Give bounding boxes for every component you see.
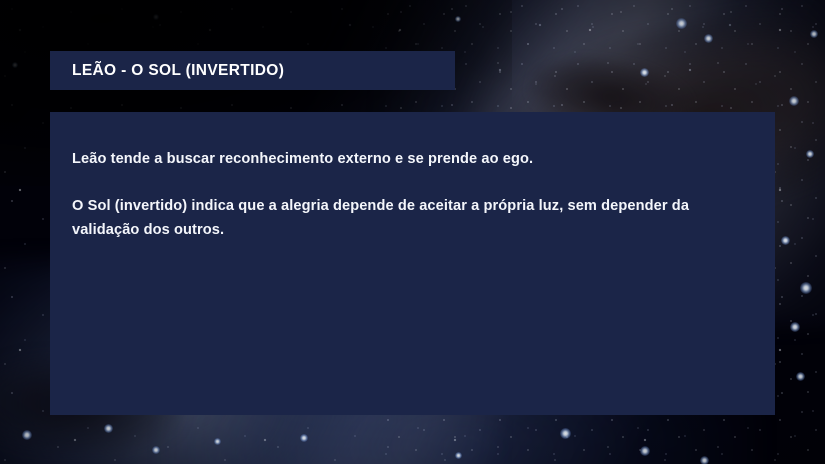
bright-star — [214, 438, 221, 445]
bright-star — [152, 446, 160, 454]
bright-star — [300, 434, 308, 442]
slide-canvas: LEÃO - O SOL (INVERTIDO) Leão tende a bu… — [0, 0, 825, 464]
bright-star — [22, 430, 32, 440]
body-paragraph-2: O Sol (invertido) indica que a alegria d… — [72, 195, 745, 242]
title-banner: LEÃO - O SOL (INVERTIDO) — [50, 51, 455, 90]
content-panel: Leão tende a buscar reconhecimento exter… — [50, 112, 775, 415]
page-title: LEÃO - O SOL (INVERTIDO) — [50, 62, 284, 80]
bright-star — [153, 14, 159, 20]
body-paragraph-1: Leão tende a buscar reconhecimento exter… — [72, 148, 745, 172]
bright-star — [12, 62, 18, 68]
bright-star — [104, 424, 113, 433]
